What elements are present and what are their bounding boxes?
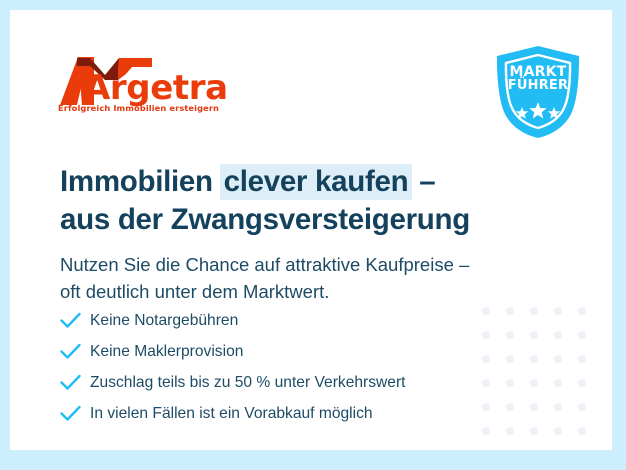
dot [530,331,538,339]
dot [554,403,562,411]
list-item: Keine Notargebühren [60,306,530,335]
dot [530,403,538,411]
headline-line-1: Immobilien clever kaufen – [60,165,435,198]
argetra-logo[interactable]: Argetra Erfolgreich Immobilien ersteiger… [56,53,236,123]
dot [554,379,562,387]
dot [578,307,586,315]
dot [530,379,538,387]
promo-banner-card: Argetra Erfolgreich Immobilien ersteiger… [10,10,612,450]
dot [530,427,538,435]
feature-label: Keine Notargebühren [90,313,238,329]
headline-highlight: clever kaufen [220,164,413,200]
dot [554,307,562,315]
list-item: In vielen Fällen ist ein Vorabkauf mögli… [60,399,530,428]
dot [530,307,538,315]
subtitle-line-1: Nutzen Sie die Chance auf attraktive Kau… [60,254,469,275]
check-icon [60,312,90,329]
feature-label: In vielen Fällen ist ein Vorabkauf mögli… [90,406,373,422]
dot [554,355,562,363]
dot [578,355,586,363]
dot [578,427,586,435]
headline-line-2: aus der Zwangsversteigerung [60,203,470,236]
check-icon [60,374,90,391]
dot [554,427,562,435]
list-item: Keine Maklerprovision [60,337,530,366]
check-icon [60,405,90,422]
subtitle: Nutzen Sie die Chance auf attraktive Kau… [60,251,560,307]
markt-fuehrer-badge[interactable]: MARKT FÜHRER [491,44,585,140]
feature-label: Zuschlag teils bis zu 50 % unter Verkehr… [90,375,405,391]
feature-list: Keine Notargebühren Keine Maklerprovisio… [60,306,530,430]
logo-wordmark: Argetra [84,71,228,105]
feature-label: Keine Maklerprovision [90,344,243,360]
headline-text-before: Immobilien [60,165,221,198]
logo-tagline: Erfolgreich Immobilien ersteigern [58,103,219,113]
subtitle-line-2: oft deutlich unter dem Marktwert. [60,281,329,302]
headline-text-after: – [411,165,435,198]
dot [578,379,586,387]
dot [530,355,538,363]
dot [554,331,562,339]
dot [578,331,586,339]
check-icon [60,343,90,360]
shield-icon [491,44,585,140]
page-title: Immobilien clever kaufen – aus der Zwang… [60,163,580,239]
dot [578,403,586,411]
list-item: Zuschlag teils bis zu 50 % unter Verkehr… [60,368,530,397]
